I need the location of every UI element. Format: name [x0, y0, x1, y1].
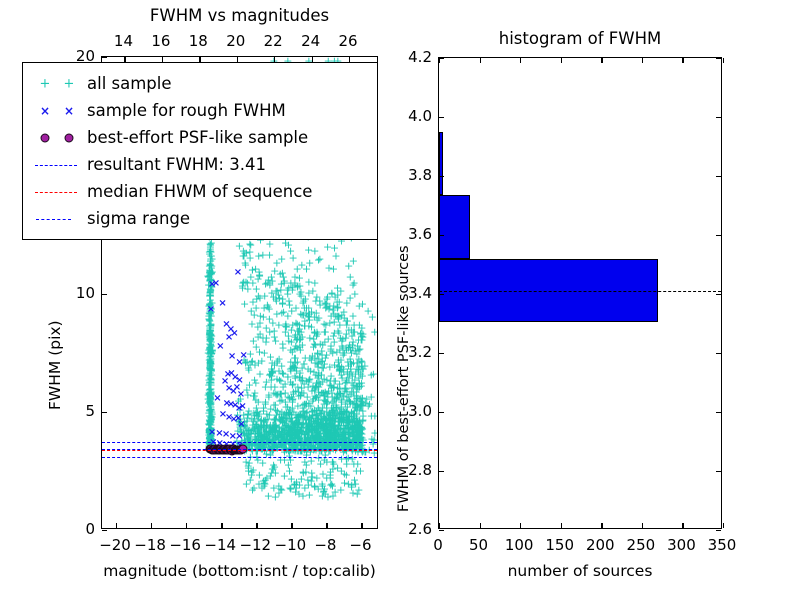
- legend-label: sigma range: [87, 209, 190, 228]
- x-tick-top: [642, 58, 643, 63]
- top-x-tick-label: 16: [151, 32, 170, 50]
- x-tick: [151, 523, 152, 528]
- scatter-xlabel: magnitude (bottom:isnt / top:calib): [101, 562, 378, 580]
- x-tick-label: −6: [349, 536, 371, 554]
- x-tick: [520, 523, 521, 528]
- histogram-axes: [438, 57, 722, 529]
- y-tick: [439, 471, 444, 472]
- legend-handle: [31, 155, 87, 175]
- legend-handle: ××: [31, 101, 87, 121]
- legend-row: median FHWM of sequence: [31, 178, 367, 205]
- legend-row: resultant FWHM: 3.41: [31, 151, 367, 178]
- x-tick: [561, 523, 562, 528]
- circle-icon: [65, 133, 74, 142]
- x-tick-top: [561, 58, 562, 63]
- x-tick-label: −12: [239, 536, 271, 554]
- legend-row: ++all sample: [31, 70, 367, 97]
- x-tick-label: 0: [433, 536, 443, 554]
- x-tick-label: −8: [314, 536, 336, 554]
- legend-label: sample for rough FWHM: [87, 101, 286, 120]
- y-tick-right: [716, 353, 721, 354]
- top-x-tick-label: 22: [264, 32, 283, 50]
- legend-handle: [31, 128, 87, 148]
- x-tick: [439, 523, 440, 528]
- x-tick-top: [601, 58, 602, 63]
- cross-icon: ×: [64, 105, 74, 117]
- x-tick: [480, 523, 481, 528]
- legend-label: all sample: [87, 74, 172, 93]
- x-tick-label: −20: [99, 536, 131, 554]
- scatter-plot-title: FWHM vs magnitudes: [101, 6, 378, 25]
- x-tick: [642, 523, 643, 528]
- x-tick: [186, 523, 187, 528]
- dashed-line-icon: [35, 192, 77, 193]
- scatter-ylabel: FWHM (pix): [46, 320, 64, 410]
- x-tick-label: −10: [275, 536, 307, 554]
- x-tick-top: [520, 58, 521, 63]
- scatter-legend[interactable]: ++all sample××sample for rough FWHMbest-…: [22, 62, 378, 240]
- histogram-title: histogram of FWHM: [438, 29, 722, 48]
- y-tick: [439, 235, 444, 236]
- x-tick: [116, 523, 117, 528]
- x-tick-label: 150: [545, 536, 574, 554]
- y-tick-right: [716, 117, 721, 118]
- cross-icon: ×: [40, 105, 50, 117]
- y-tick-right: [716, 294, 721, 295]
- y-tick: [439, 176, 444, 177]
- legend-row: best-effort PSF-like sample: [31, 124, 367, 151]
- y-tick-right: [716, 176, 721, 177]
- x-tick-label: 50: [469, 536, 488, 554]
- x-tick: [601, 523, 602, 528]
- legend-label: best-effort PSF-like sample: [87, 128, 308, 147]
- plus-icon: +: [40, 77, 51, 90]
- x-tick-label: 250: [627, 536, 656, 554]
- histogram-reference-line: [439, 291, 721, 292]
- legend-label: resultant FWHM: 3.41: [87, 155, 266, 174]
- x-tick-label: −16: [169, 536, 201, 554]
- top-x-tick-label: 24: [301, 32, 320, 50]
- x-tick-label: −14: [204, 536, 236, 554]
- y-tick-label: 4.0: [392, 107, 432, 125]
- x-tick: [361, 523, 362, 528]
- x-tick-label: 200: [586, 536, 615, 554]
- y-tick: [439, 58, 444, 59]
- y-tick: [439, 353, 444, 354]
- y-tick: [439, 294, 444, 295]
- y-tick: [439, 117, 444, 118]
- legend-handle: [31, 182, 87, 202]
- y-tick-right: [716, 235, 721, 236]
- top-x-tick-label: 14: [114, 32, 133, 50]
- y-tick-label: 5: [67, 402, 95, 420]
- y-tick: [102, 294, 107, 295]
- legend-label: median FHWM of sequence: [87, 182, 312, 201]
- plus-icon: +: [64, 77, 75, 90]
- x-tick-top: [480, 58, 481, 63]
- x-tick-label: −18: [134, 536, 166, 554]
- histogram-xlabel: number of sources: [438, 562, 722, 580]
- x-tick: [291, 523, 292, 528]
- y-tick: [102, 412, 107, 413]
- x-tick: [256, 523, 257, 528]
- x-tick: [326, 523, 327, 528]
- y-tick: [102, 57, 107, 58]
- top-x-tick-label: 20: [226, 32, 245, 50]
- dashdot-line-icon: [36, 219, 71, 220]
- y-tick-label: 4.2: [392, 48, 432, 66]
- y-tick-right: [716, 471, 721, 472]
- histogram-tick-marks: [439, 58, 721, 528]
- y-tick-right: [716, 412, 721, 413]
- top-x-tick-label: 26: [339, 32, 358, 50]
- x-tick-label: 350: [708, 536, 737, 554]
- figure-canvas: ++++++++++++++++++++++++++++++++++++++++…: [0, 0, 800, 600]
- legend-row: sigma range: [31, 205, 367, 232]
- x-tick-label: 100: [505, 536, 534, 554]
- dashed-line-icon: [35, 165, 77, 166]
- x-tick-label: 300: [667, 536, 696, 554]
- y-tick: [102, 530, 107, 531]
- y-tick-label: 2.6: [392, 520, 432, 538]
- legend-handle: ++: [31, 74, 87, 94]
- x-tick: [723, 523, 724, 528]
- x-tick-top: [682, 58, 683, 63]
- x-tick-top: [723, 58, 724, 63]
- legend-row: ××sample for rough FWHM: [31, 97, 367, 124]
- y-tick-label: 3.8: [392, 166, 432, 184]
- x-tick: [682, 523, 683, 528]
- y-tick-label: 10: [67, 284, 95, 302]
- y-tick-label: 0: [67, 520, 95, 538]
- histogram-ylabel: FWHM of best-effort PSF-like sources: [396, 245, 412, 512]
- circle-icon: [41, 133, 50, 142]
- y-tick: [439, 530, 444, 531]
- x-tick: [221, 523, 222, 528]
- top-x-tick-label: 18: [189, 32, 208, 50]
- y-tick: [439, 412, 444, 413]
- y-tick-right: [716, 530, 721, 531]
- y-tick-right: [716, 58, 721, 59]
- y-tick-label: 3.6: [392, 225, 432, 243]
- legend-handle: [31, 209, 87, 229]
